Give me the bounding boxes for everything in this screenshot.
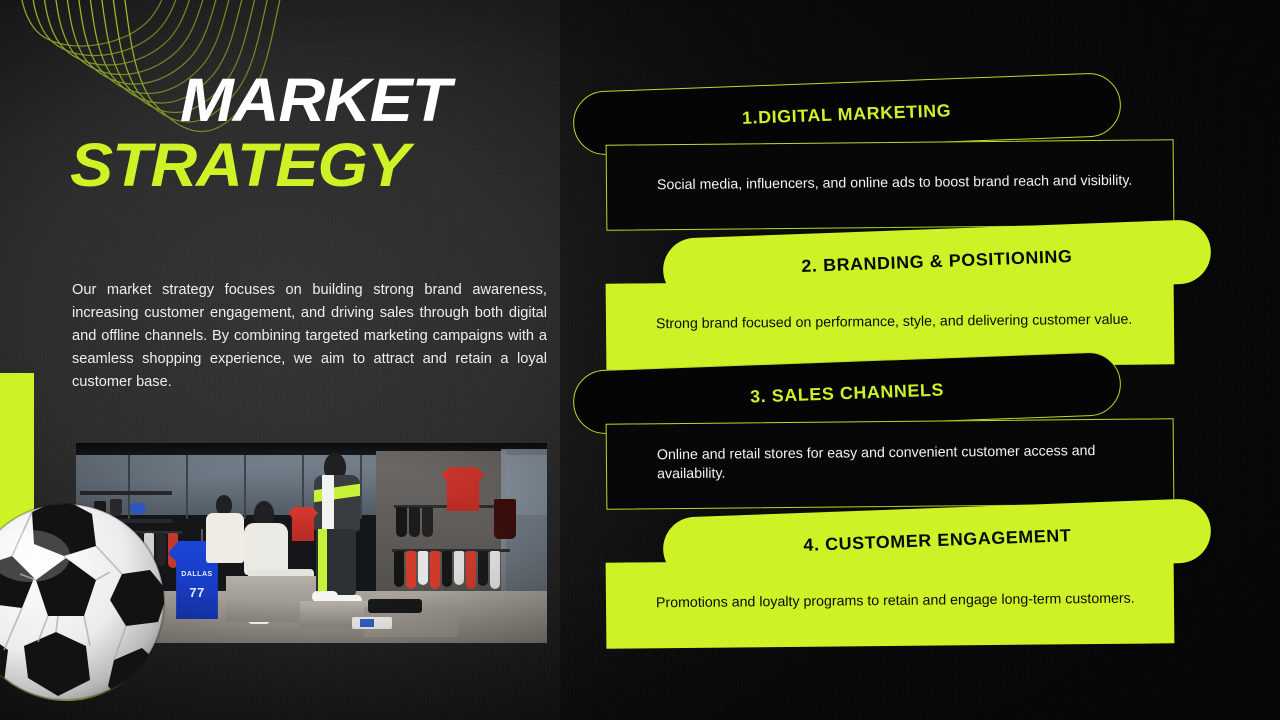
card-4-heading: 4. CUSTOMER ENGAGEMENT xyxy=(803,525,1072,556)
card-1-body-box: Social media, influencers, and online ad… xyxy=(606,139,1175,230)
card-4-body: Promotions and loyalty programs to retai… xyxy=(606,590,1157,615)
card-2-heading: 2. BRANDING & POSITIONING xyxy=(801,246,1073,277)
card-2-body: Strong brand focused on performance, sty… xyxy=(606,311,1155,336)
card-4-body-box: Promotions and loyalty programs to retai… xyxy=(606,557,1175,648)
card-3-body-box: Online and retail stores for easy and co… xyxy=(606,418,1175,509)
strategy-cards-list: 1.DIGITAL MARKETING Social media, influe… xyxy=(0,0,1280,720)
card-3-heading: 3. SALES CHANNELS xyxy=(750,379,945,407)
card-3-body: Online and retail stores for easy and co… xyxy=(607,441,1173,485)
slide-canvas: MARKET STRATEGY Our market strategy focu… xyxy=(0,0,1280,720)
card-1-body: Social media, influencers, and online ad… xyxy=(607,172,1154,197)
card-1-heading: 1.DIGITAL MARKETING xyxy=(742,100,952,129)
